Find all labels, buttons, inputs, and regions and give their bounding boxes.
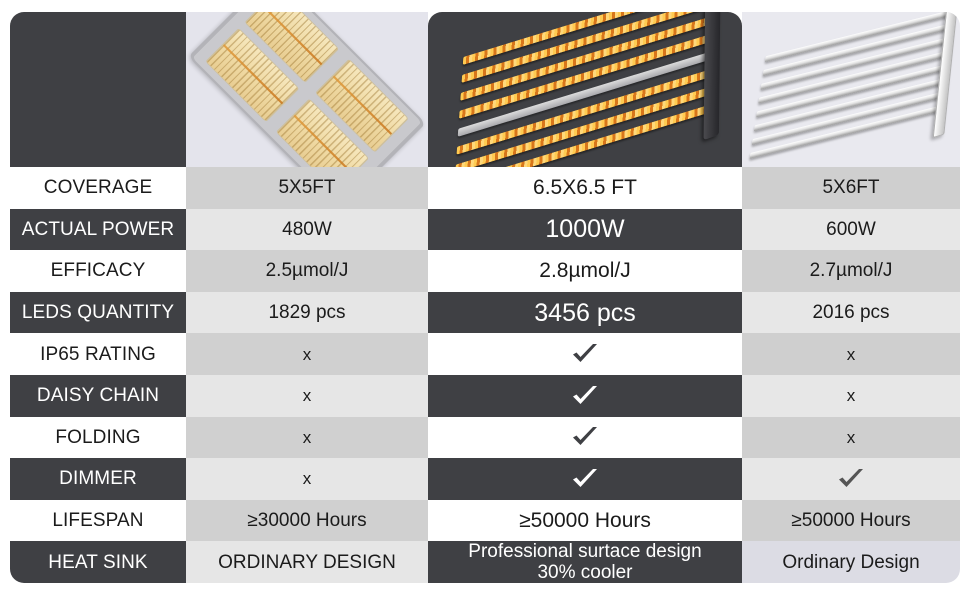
heat-sink-line-2: 30% cooler	[537, 562, 632, 583]
heat-sink-line-1: Professional surtace design	[468, 541, 701, 562]
row-label-dimmer: DIMMER	[10, 458, 186, 500]
product-comparison-table: COVERAGE 5X5FT 6.5X6.5 FT 5X6FT ACTUAL P…	[10, 12, 960, 583]
row-label-coverage: COVERAGE	[10, 167, 186, 209]
row-label-ip65-rating: IP65 RATING	[10, 333, 186, 375]
check-icon	[570, 424, 600, 450]
cell-heat-sink-product-2: Professional surtace design 30% cooler	[428, 541, 742, 583]
check-icon	[836, 466, 866, 492]
cell-daisy-chain-product-2	[428, 375, 742, 417]
cell-coverage-product-2: 6.5X6.5 FT	[428, 167, 742, 209]
cell-dimmer-product-1: x	[186, 458, 428, 500]
row-label-efficacy: EFFICACY	[10, 250, 186, 292]
cell-ip65-rating-product-3: x	[742, 333, 960, 375]
cell-efficacy-product-3: 2.7µmol/J	[742, 250, 960, 292]
cell-actual-power-product-1: 480W	[186, 209, 428, 251]
cell-coverage-product-1: 5X5FT	[186, 167, 428, 209]
cell-folding-product-1: x	[186, 417, 428, 459]
eight-bar-amber-led-grow-light-icon	[428, 12, 742, 167]
check-icon	[570, 466, 600, 492]
cell-lifespan-product-2: ≥50000 Hours	[428, 500, 742, 542]
header-blank-cell	[10, 12, 186, 167]
row-label-folding: FOLDING	[10, 417, 186, 459]
cell-heat-sink-product-3: Ordinary Design	[742, 541, 960, 583]
cell-daisy-chain-product-1: x	[186, 375, 428, 417]
cell-folding-product-3: x	[742, 417, 960, 459]
cell-lifespan-product-1: ≥30000 Hours	[186, 500, 428, 542]
cell-heat-sink-product-1: ORDINARY DESIGN	[186, 541, 428, 583]
cell-ip65-rating-product-1: x	[186, 333, 428, 375]
cell-dimmer-product-2	[428, 458, 742, 500]
row-label-heat-sink: HEAT SINK	[10, 541, 186, 583]
row-label-actual-power: ACTUAL POWER	[10, 209, 186, 251]
cell-dimmer-product-3	[742, 458, 960, 500]
quantum-board-led-panel-icon	[186, 12, 428, 167]
row-label-daisy-chain: DAISY CHAIN	[10, 375, 186, 417]
product-image-1	[186, 12, 428, 167]
check-icon	[570, 341, 600, 367]
eight-bar-white-led-grow-light-icon	[742, 12, 960, 167]
row-label-lifespan: LIFESPAN	[10, 500, 186, 542]
check-icon	[570, 383, 600, 409]
cell-actual-power-product-2: 1000W	[428, 209, 742, 251]
row-label-leds-quantity: LEDS QUANTITY	[10, 292, 186, 334]
cell-efficacy-product-2: 2.8µmol/J	[428, 250, 742, 292]
cell-actual-power-product-3: 600W	[742, 209, 960, 251]
cell-leds-quantity-product-2: 3456 pcs	[428, 292, 742, 334]
cell-leds-quantity-product-1: 1829 pcs	[186, 292, 428, 334]
cell-coverage-product-3: 5X6FT	[742, 167, 960, 209]
product-image-2	[428, 12, 742, 167]
cell-folding-product-2	[428, 417, 742, 459]
cell-lifespan-product-3: ≥50000 Hours	[742, 500, 960, 542]
cell-ip65-rating-product-2	[428, 333, 742, 375]
cell-efficacy-product-1: 2.5µmol/J	[186, 250, 428, 292]
cell-leds-quantity-product-3: 2016 pcs	[742, 292, 960, 334]
product-image-3	[742, 12, 960, 167]
cell-daisy-chain-product-3: x	[742, 375, 960, 417]
